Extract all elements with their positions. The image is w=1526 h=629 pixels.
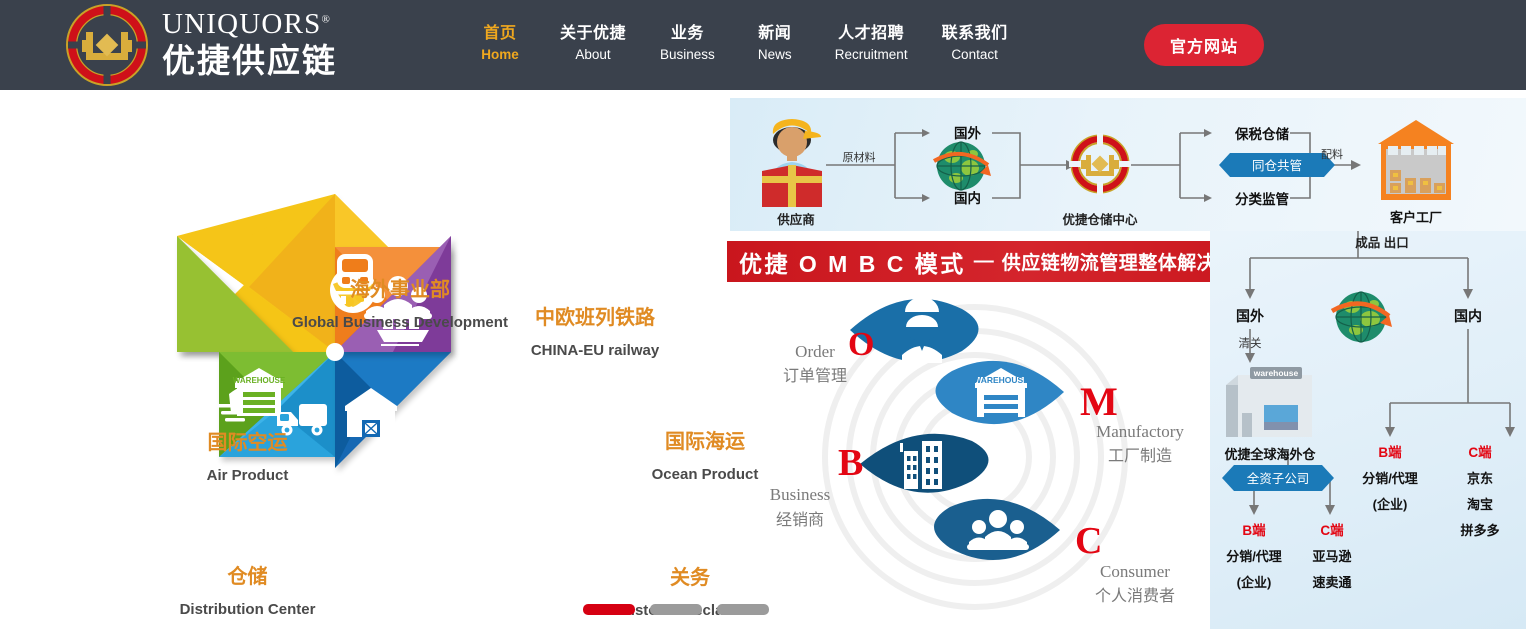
svg-text:Business: Business [770,485,830,504]
svg-text:WAREHOUSE: WAREHOUSE [973,375,1029,385]
carousel-dot-1[interactable] [583,604,635,615]
factory-building-icon [1378,120,1454,200]
svg-text:B端: B端 [1242,522,1266,538]
hub-label: 优捷仓储中心 [1062,212,1138,227]
carousel-pagination [583,604,769,615]
nav-item-business[interactable]: 业务 Business [654,22,721,65]
svg-text:分销/代理: 分销/代理 [1362,471,1418,486]
nav-label-en: News [749,45,801,65]
ombc-caption-consumer: Consumer 个人消费者 [1095,562,1175,605]
ombc-caption-manufactory: Manufactory 工厂制造 [1096,422,1184,465]
warehouse-icon: WAREHOUSE [973,368,1029,417]
classified-supervision-label: 分类监管 [1235,191,1289,207]
worker-with-box-icon [762,119,822,207]
svg-text:B端: B端 [1378,444,1402,460]
carousel-dot-3[interactable] [717,604,769,615]
nav-label-cn: 关于优捷 [560,22,626,45]
nav-item-recruitment[interactable]: 人才招聘 Recruitment [829,22,914,65]
svg-text:Order: Order [795,342,835,361]
svg-text:工厂制造: 工厂制造 [1108,447,1172,465]
nav-label-cn: 首页 [474,22,526,45]
uniquors-circular-emblem-icon [66,4,148,86]
nav-label-en: Recruitment [835,45,908,65]
export-edge-label: 成品 出口 [1355,235,1408,250]
svg-text:分销/代理: 分销/代理 [1226,549,1282,564]
nav-item-home[interactable]: 首页 Home [468,22,532,65]
branch-domestic-label: 国内 [1454,308,1482,324]
nav-label-en: Business [660,45,715,65]
globe-arrow-icon [934,142,991,190]
service-pinwheel-diagram: WAREHOUSE [155,172,515,532]
svg-text:Consumer: Consumer [1100,562,1170,581]
svg-text:warehouse: warehouse [1253,368,1299,378]
svg-text:C端: C端 [1468,444,1492,460]
distribution-edge-label: 配料 [1321,147,1343,161]
ombc-banner: 优捷 O M B C 模式 — 供应链物流管理整体解决方案 [727,241,1275,282]
svg-text:经销商: 经销商 [776,511,824,529]
shared-warehouse-chip: 同仓共管 [1219,153,1335,177]
site-logo[interactable]: UNIQUORS® 优捷供应链 [66,4,337,86]
domestic-label: 国内 [954,190,981,206]
svg-text:WAREHOUSE: WAREHOUSE [233,376,286,385]
uniquors-emblem-icon [1069,133,1131,195]
globe-arrow-icon [1332,292,1392,342]
svg-text:京东: 京东 [1467,471,1493,486]
pinwheel-label-rail: 中欧班列铁路 CHINA-EU railway [455,305,735,361]
ombc-caption-order: Order 订单管理 [783,342,847,385]
svg-text:全资子公司: 全资子公司 [1247,471,1310,486]
nav-item-contact[interactable]: 联系我们 Contact [936,22,1014,65]
overseas-warehouse-label: 优捷全球海外仓 [1224,447,1316,462]
nav-label-en: About [560,45,626,65]
nav-label-en: Home [474,45,526,65]
nav-label-cn: 新闻 [749,22,801,45]
warehouse-icon: WAREHOUSE [233,368,286,416]
ombc-caption-business: Business 经销商 [770,485,830,529]
warehouse-building-icon: warehouse [1226,367,1312,437]
registered-mark-icon: ® [321,13,331,25]
distribution-flow-diagram: 成品 出口 国外 国内 清关 [1210,231,1526,629]
pinwheel-panel: WAREHOUSE [0,90,730,629]
carousel-dot-2[interactable] [650,604,702,615]
pinwheel-label-air: 国际空运 Air Product [165,430,330,486]
nav-label-en: Contact [942,45,1008,65]
official-website-button[interactable]: 官方网站 [1144,24,1264,66]
order-person-icon [902,297,942,363]
subsidiary-chip: 全资子公司 [1222,465,1334,491]
nav-label-cn: 联系我们 [942,22,1008,45]
abroad-label: 国外 [954,125,982,141]
abroad-child-b: B端 分销/代理 (企业) [1226,522,1282,590]
ombc-letter-b: B [838,442,863,484]
customer-factory-label: 客户工厂 [1390,210,1442,225]
svg-text:速卖通: 速卖通 [1312,575,1351,590]
ombc-letter-c: C [1075,520,1102,562]
branch-abroad-label: 国外 [1236,308,1264,324]
svg-text:C端: C端 [1320,522,1344,538]
ombc-petal-diagram: O Order 订单管理 WAREHOUSE M [740,285,1210,625]
supplier-label: 供应商 [776,212,815,227]
svg-text:拼多多: 拼多多 [1460,523,1499,538]
domestic-child-b: B端 分销/代理 (企业) [1362,444,1418,512]
svg-text:同仓共管: 同仓共管 [1252,158,1302,173]
svg-text:(企业): (企业) [1237,575,1272,590]
nav-item-about[interactable]: 关于优捷 About [554,22,632,65]
logo-brand-en: UNIQUORS® [162,9,337,39]
domestic-child-c: C端 京东 淘宝 拼多多 [1460,444,1499,538]
raw-material-edge-label: 原材料 [843,150,876,164]
nav-item-news[interactable]: 新闻 News [743,22,807,65]
site-header: UNIQUORS® 优捷供应链 首页 Home 关于优捷 About 业务 Bu… [0,0,1526,90]
svg-text:淘宝: 淘宝 [1467,497,1493,512]
nav-label-cn: 人才招聘 [835,22,908,45]
main-navigation: 首页 Home 关于优捷 About 业务 Business 新闻 News 人… [468,22,1036,65]
svg-text:(企业): (企业) [1373,497,1408,512]
abroad-child-c: C端 亚马逊 速卖通 [1312,522,1351,590]
page-root: UNIQUORS® 优捷供应链 首页 Home 关于优捷 About 业务 Bu… [0,0,1526,629]
ombc-banner-title: 优捷 O M B C 模式 [739,245,966,279]
supply-chain-flow-diagram: 供应商 原材料 国外 国内 [730,98,1526,231]
ombc-petal-manufactory: WAREHOUSE [936,361,1065,424]
ombc-petal-consumer [934,499,1060,560]
svg-text:Manufactory: Manufactory [1096,422,1184,441]
customs-clearance-edge-label: 清关 [1239,336,1262,350]
svg-text:亚马逊: 亚马逊 [1312,549,1351,564]
pinwheel-label-warehouse: 仓储 Distribution Center [165,564,330,620]
ombc-letter-o: O [848,326,874,363]
ombc-letter-m: M [1080,379,1118,424]
ombc-banner-dash: — [974,250,994,273]
svg-text:订单管理: 订单管理 [783,367,847,385]
svg-text:个人消费者: 个人消费者 [1095,587,1175,605]
logo-brand-cn: 优捷供应链 [162,40,337,81]
bonded-warehouse-label: 保税仓储 [1234,126,1289,142]
nav-label-cn: 业务 [660,22,715,45]
